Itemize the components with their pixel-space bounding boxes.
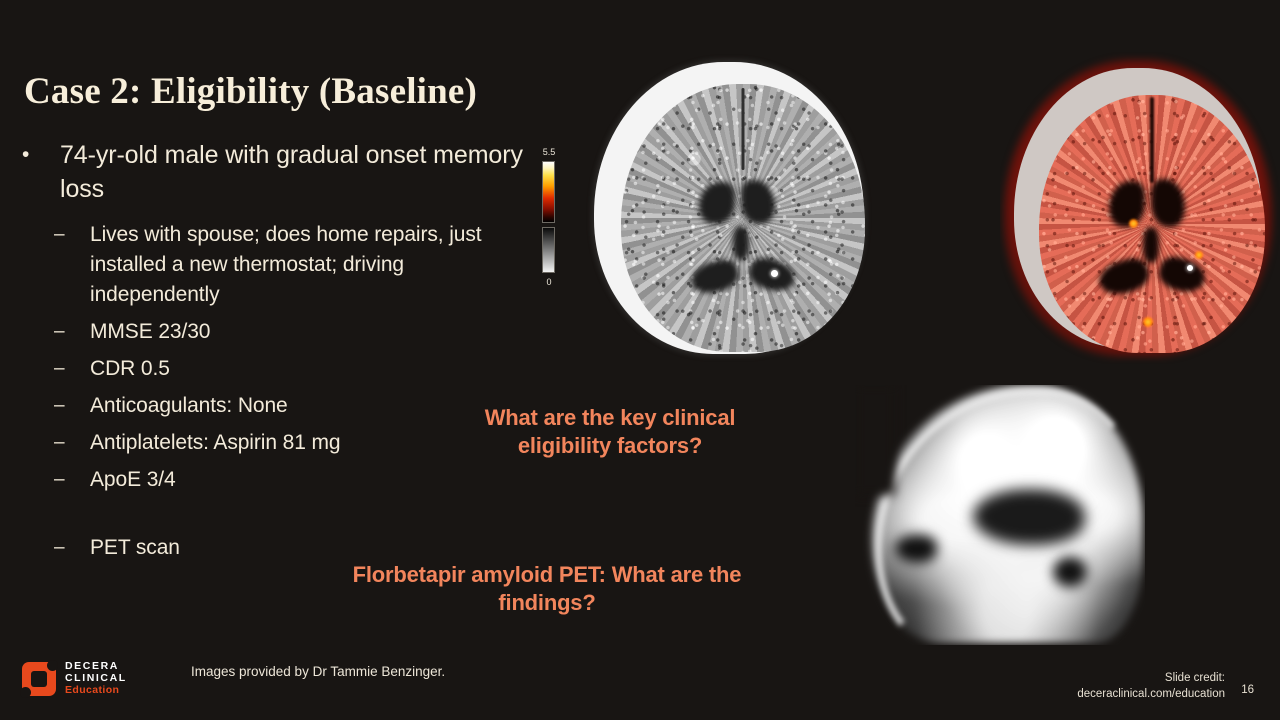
logo-line-clinical: CLINICAL bbox=[65, 673, 127, 685]
amyloid-hotspot bbox=[1129, 219, 1138, 228]
sub-bullet-text: Anticoagulants: None bbox=[90, 391, 288, 421]
logo-notch-top-right bbox=[47, 660, 58, 671]
dash-marker: – bbox=[54, 317, 90, 347]
sub-bullet-text: ApoE 3/4 bbox=[90, 465, 176, 495]
decera-logo: DECERA CLINICAL Education bbox=[22, 661, 127, 696]
logo-line-decera: DECERA bbox=[65, 661, 127, 673]
bullet-marker: • bbox=[18, 138, 60, 172]
bullet-list: • 74-yr-old male with gradual onset memo… bbox=[18, 138, 538, 570]
axial-ct-image bbox=[580, 52, 880, 364]
dash-marker: – bbox=[54, 428, 90, 458]
ct-skull bbox=[594, 62, 864, 354]
choroid-plexus-calcification bbox=[1187, 265, 1193, 271]
decera-logo-icon bbox=[22, 662, 56, 696]
pet-colorbar: 5.5 0 bbox=[536, 147, 562, 287]
fused-skull bbox=[1014, 68, 1262, 348]
dash-marker: – bbox=[54, 391, 90, 421]
interhemispheric-fissure bbox=[1150, 97, 1154, 183]
bullet-primary: • 74-yr-old male with gradual onset memo… bbox=[18, 138, 538, 206]
sub-bullet-mmse: – MMSE 23/30 bbox=[54, 317, 538, 347]
colorbar-min-label: 0 bbox=[536, 277, 562, 287]
colorbar-hot-gradient bbox=[542, 161, 555, 223]
bullet-primary-text: 74-yr-old male with gradual onset memory… bbox=[60, 138, 538, 206]
sub-bullet-living-situation: – Lives with spouse; does home repairs, … bbox=[54, 220, 538, 310]
logo-inner-square bbox=[31, 671, 47, 687]
sub-bullet-text: Antiplatelets: Aspirin 81 mg bbox=[90, 428, 341, 458]
dash-marker: – bbox=[54, 533, 90, 563]
third-ventricle bbox=[1143, 227, 1159, 263]
slide-credit-label: Slide credit: bbox=[1077, 671, 1225, 687]
dash-marker: – bbox=[54, 354, 90, 384]
sub-bullet-text: MMSE 23/30 bbox=[90, 317, 210, 347]
logo-line-education: Education bbox=[65, 685, 127, 697]
dash-marker: – bbox=[54, 465, 90, 495]
dash-marker: – bbox=[54, 220, 90, 250]
slide-credit: Slide credit: deceraclinical.com/educati… bbox=[1077, 671, 1225, 702]
temporal-void bbox=[895, 535, 937, 563]
fused-pet-ct-image bbox=[1000, 52, 1280, 364]
fused-brain-parenchyma bbox=[1039, 95, 1265, 353]
page-title: Case 2: Eligibility (Baseline) bbox=[24, 70, 477, 113]
sub-bullet-text: Lives with spouse; does home repairs, ju… bbox=[90, 220, 538, 310]
sub-bullet-apoe: – ApoE 3/4 bbox=[54, 465, 538, 495]
ventricle-void bbox=[1053, 557, 1087, 587]
interhemispheric-fissure bbox=[742, 88, 745, 170]
slide-credit-url: deceraclinical.com/education bbox=[1077, 687, 1225, 703]
amyloid-hotspot bbox=[1143, 317, 1153, 327]
logo-notch-bottom-left bbox=[20, 687, 31, 698]
corpus-callosum-void bbox=[973, 489, 1085, 545]
colorbar-gray-gradient bbox=[542, 227, 555, 273]
choroid-plexus-calcification bbox=[771, 270, 778, 277]
slide-number: 16 bbox=[1241, 684, 1254, 696]
sub-bullet-cdr: – CDR 0.5 bbox=[54, 354, 538, 384]
callout-pet-findings: Florbetapir amyloid PET: What are the fi… bbox=[352, 561, 742, 617]
logo-wordmark: DECERA CLINICAL Education bbox=[65, 661, 127, 696]
sub-bullet-text: CDR 0.5 bbox=[90, 354, 170, 384]
amyloid-hotspot bbox=[1195, 251, 1203, 259]
ct-brain-parenchyma bbox=[621, 84, 865, 352]
background-mask bbox=[855, 385, 895, 495]
sub-bullet-list: – Lives with spouse; does home repairs, … bbox=[54, 220, 538, 563]
third-ventricle bbox=[733, 226, 749, 260]
image-credit: Images provided by Dr Tammie Benzinger. bbox=[191, 664, 445, 679]
sagittal-pet-image bbox=[855, 385, 1145, 645]
callout-key-factors: What are the key clinical eligibility fa… bbox=[462, 404, 758, 460]
sub-bullet-text: PET scan bbox=[90, 533, 180, 563]
sub-bullet-pet-scan: – PET scan bbox=[54, 533, 538, 563]
colorbar-max-label: 5.5 bbox=[536, 147, 562, 157]
slide: Case 2: Eligibility (Baseline) • 74-yr-o… bbox=[0, 0, 1280, 720]
